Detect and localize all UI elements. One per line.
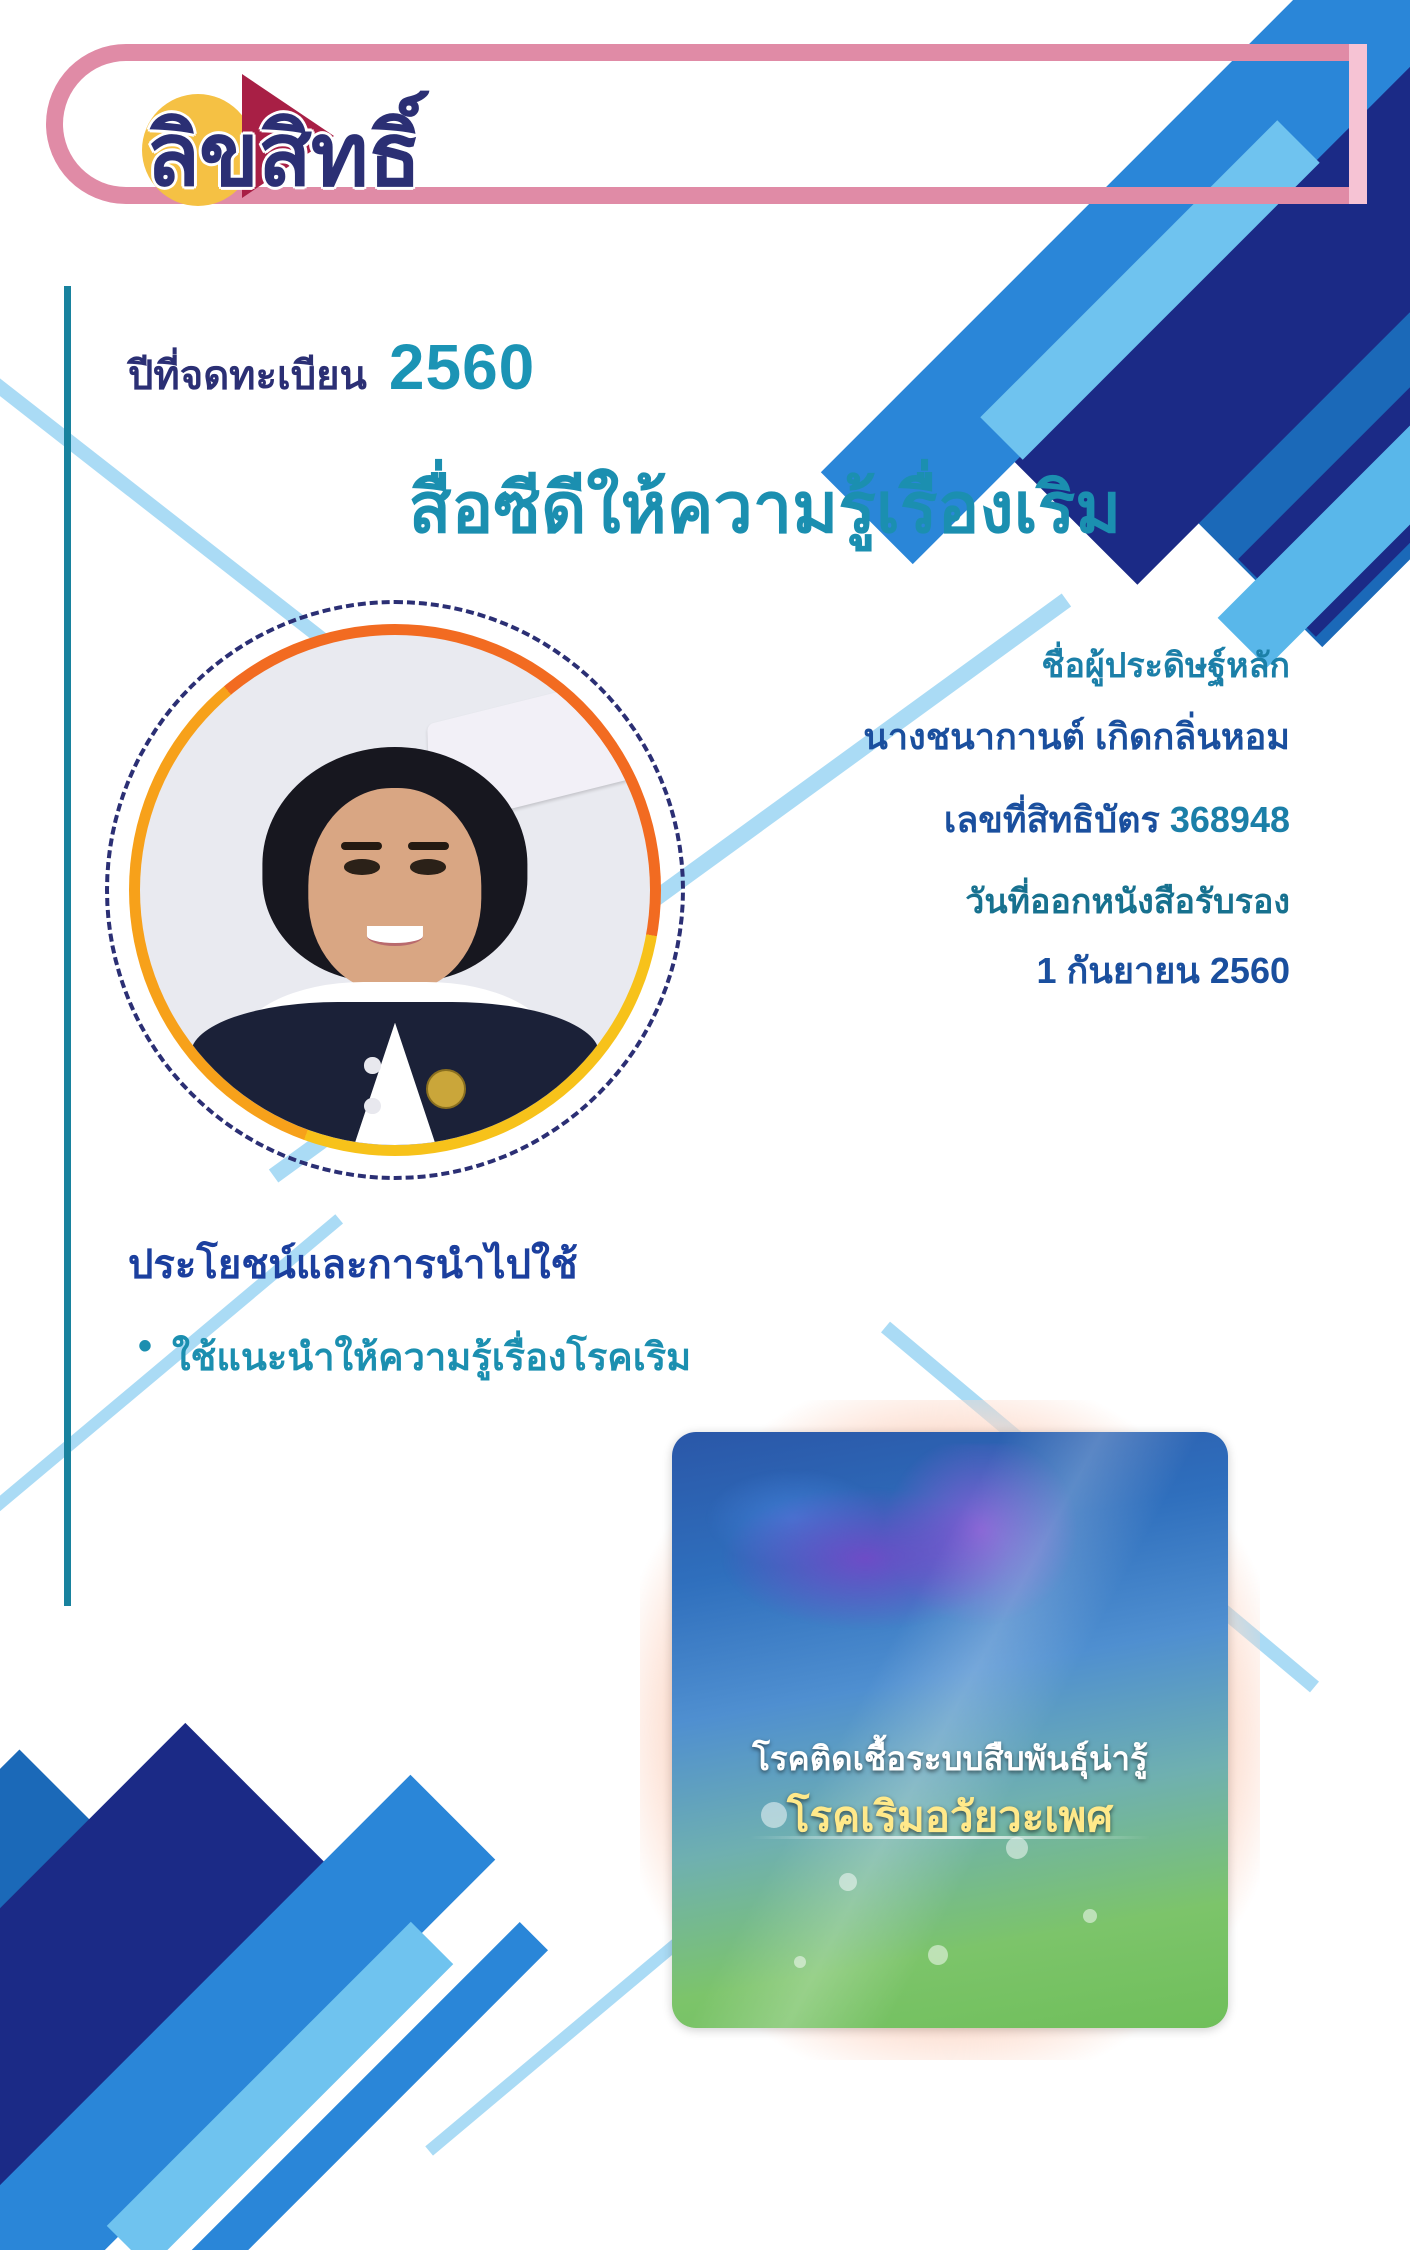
benefits-heading: ประโยชน์และการนำไปใช้ xyxy=(128,1232,1028,1296)
cover-title-line-1: โรคติดเชื้อระบบสืบพันธุ์น่ารู้ xyxy=(672,1732,1228,1785)
dvd-cover-image: โรคติดเชื้อระบบสืบพันธุ์น่ารู้ โรคเริมอว… xyxy=(672,1432,1228,2028)
registration-year-row: ปีที่จดทะเบียน 2560 xyxy=(128,330,535,407)
inventor-portrait xyxy=(105,600,685,1180)
benefits-list: ใช้แนะนำให้ความรู้เรื่องโรคเริม xyxy=(128,1326,1028,1387)
certificate-details: ชื่อผู้ประดิษฐ์หลัก นางชนากานต์ เกิดกลิ่… xyxy=(650,638,1290,1025)
logo-label: ลิขสิทธิ์ xyxy=(146,84,421,224)
cover-bubble-2 xyxy=(839,1873,857,1891)
cover-title-line-2: โรคเริมอวัยวะเพศ xyxy=(672,1784,1228,1850)
copyright-logo: ลิขสิทธิ์ xyxy=(120,58,600,198)
portrait-face xyxy=(308,788,481,992)
portrait-brow-left xyxy=(341,842,382,850)
cover-bubble-5 xyxy=(928,1945,948,1965)
certificate-date-value: 1 กันยายน 2560 xyxy=(650,942,1290,999)
portrait-button-2 xyxy=(364,1098,380,1114)
registration-year-label: ปีที่จดทะเบียน xyxy=(128,343,367,407)
cover-shine-overlay xyxy=(672,1432,1228,2028)
portrait-eye-left xyxy=(344,859,380,874)
portrait-photo xyxy=(140,635,650,1145)
benefits-section: ประโยชน์และการนำไปใช้ ใช้แนะนำให้ความรู้… xyxy=(128,1232,1028,1387)
patent-number: 368948 xyxy=(1170,799,1290,840)
inventor-name: นางชนากานต์ เกิดกลิ่นหอม xyxy=(650,708,1290,765)
portrait-orange-ring xyxy=(129,624,661,1156)
patent-line: เลขที่สิทธิบัตร 368948 xyxy=(650,791,1290,848)
copyright-certificate-poster: ลิขสิทธิ์ ปีที่จดทะเบียน 2560 สื่อซีดีให… xyxy=(0,0,1410,2250)
page-title: สื่อซีดีให้ความรู้เรื่องเริม xyxy=(0,452,1410,563)
certificate-date-label: วันที่ออกหนังสือรับรอง xyxy=(650,874,1290,928)
portrait-brow-right xyxy=(408,842,449,850)
portrait-eye-right xyxy=(410,859,446,874)
inventor-label: ชื่อผู้ประดิษฐ์หลัก xyxy=(650,638,1290,692)
portrait-button-1 xyxy=(364,1057,380,1073)
cover-divider xyxy=(750,1836,1150,1839)
list-item: ใช้แนะนำให้ความรู้เรื่องโรคเริม xyxy=(172,1326,1028,1387)
registration-year-value: 2560 xyxy=(389,330,535,404)
patent-label: เลขที่สิทธิบัตร xyxy=(944,799,1160,840)
